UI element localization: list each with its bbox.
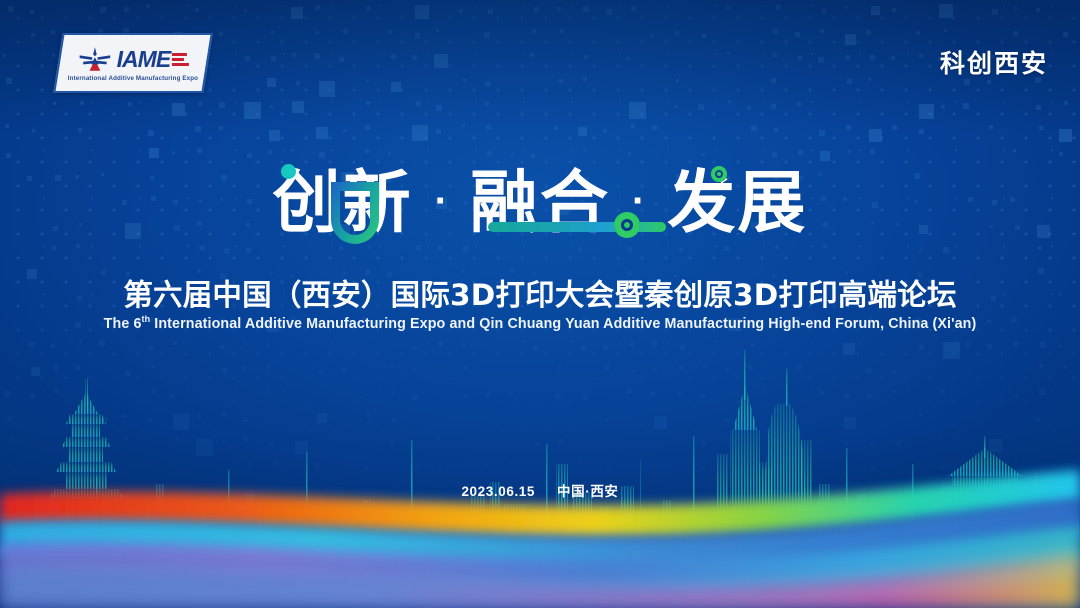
iame-logo[interactable]: IAME International Additive Manufacturin… (53, 33, 213, 93)
title-en-part2: International Additive Manufacturing Exp… (150, 316, 976, 332)
page-title-english: The 6th International Additive Manufactu… (0, 314, 1080, 332)
accent-dot-cyan-icon (281, 164, 296, 179)
conference-poster: IAME International Additive Manufacturin… (0, 0, 1080, 608)
slogan-part-innovation: 创新 (273, 170, 413, 238)
slogan: 创新 · 融合 · 发展 (0, 152, 1080, 256)
logo-stripes-icon (172, 52, 189, 65)
page-title-chinese: 第六届中国（西安）国际3D打印大会暨秦创原3D打印高端论坛 (0, 272, 1080, 314)
title-en-ordinal: th (142, 314, 151, 324)
event-date: 2023.06.15 (461, 484, 535, 499)
event-location: 中国·西安 (557, 484, 619, 499)
title-en-part1: The 6 (104, 316, 142, 332)
brand-kechuang-xian: 科创西安 (940, 44, 1048, 80)
event-info: 2023.06.15中国·西安 (0, 480, 1080, 500)
logo-tagline: International Additive Manufacturing Exp… (68, 75, 198, 82)
slogan-part-integration: 融合 (470, 170, 610, 238)
slogan-separator-1: · (435, 181, 448, 221)
logo-wordmark: IAME (117, 47, 171, 70)
accent-u-stroke-icon (331, 182, 379, 244)
slogan-text-3: 发展 (667, 170, 807, 238)
star-burst-icon (77, 46, 113, 72)
accent-ring-green-icon (614, 212, 640, 238)
slogan-part-development: 发展 (667, 170, 807, 238)
